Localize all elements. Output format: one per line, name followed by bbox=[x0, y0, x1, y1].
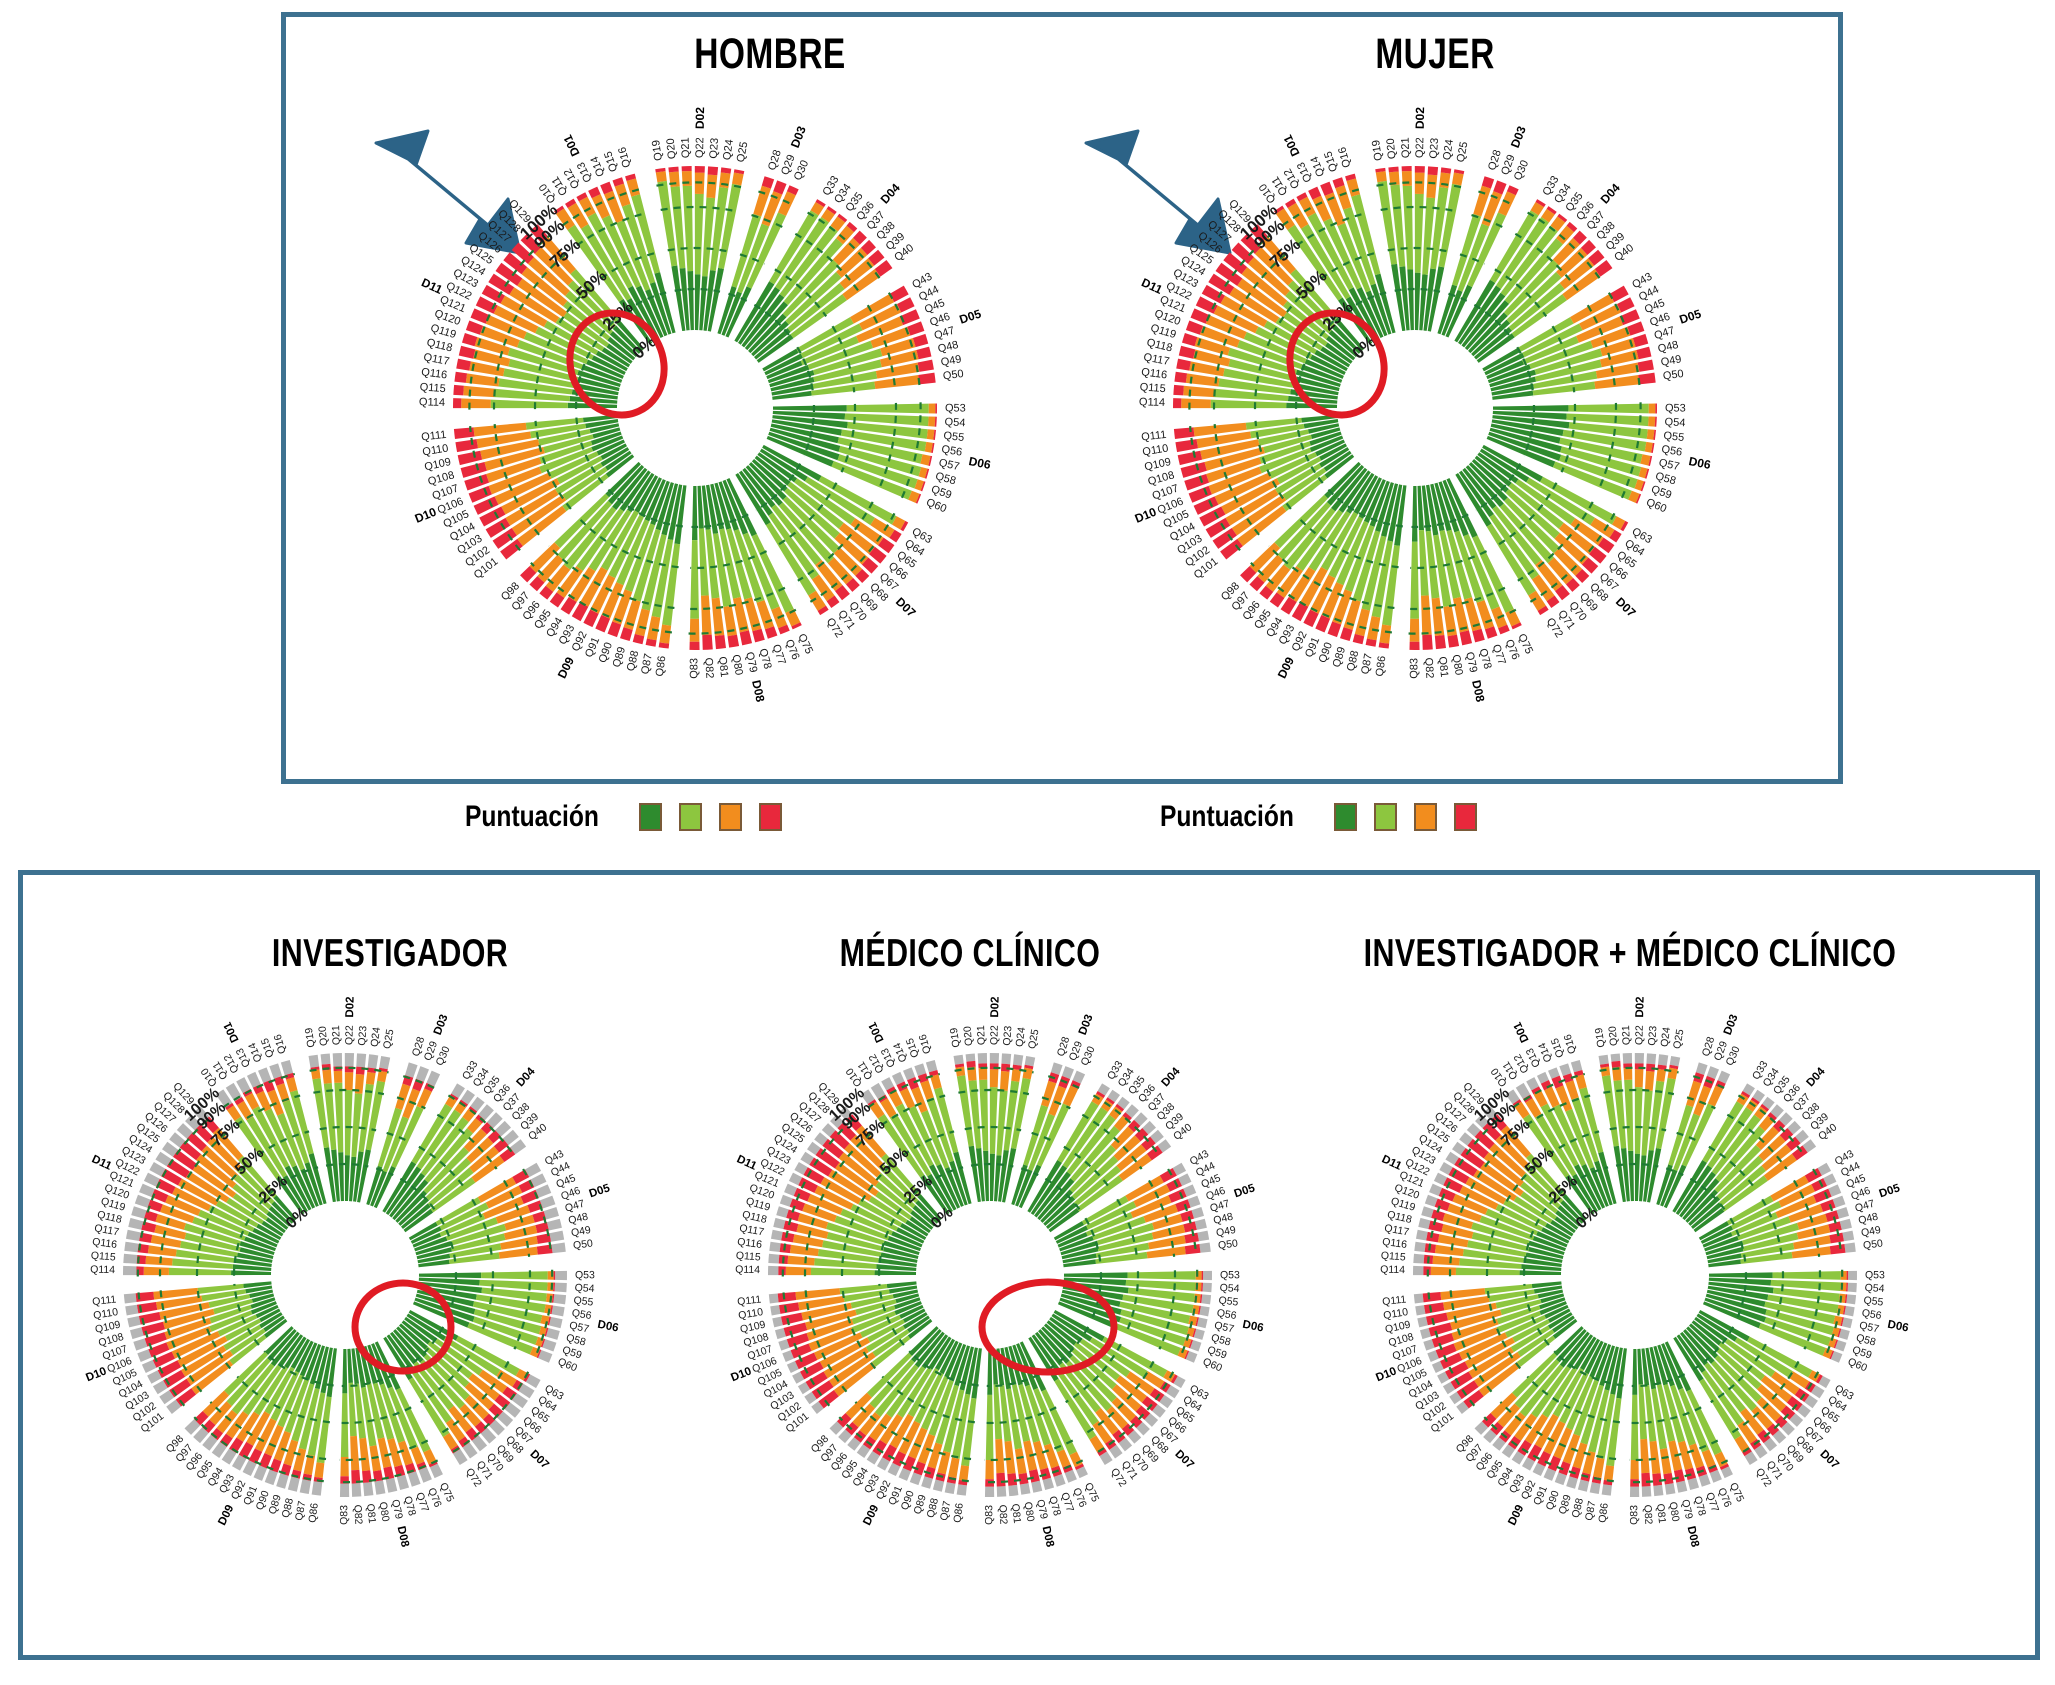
bar-segment bbox=[715, 635, 726, 649]
svg-text:D10: D10 bbox=[1133, 505, 1159, 526]
bar-segment bbox=[990, 1087, 998, 1154]
bar-segment-missing bbox=[386, 1478, 398, 1493]
bar-segment bbox=[907, 321, 924, 335]
svg-text:D04: D04 bbox=[1598, 181, 1623, 207]
svg-text:D01: D01 bbox=[1512, 1019, 1532, 1044]
bar-segment bbox=[1402, 166, 1412, 171]
bar-segment bbox=[1432, 598, 1445, 636]
bar-segment bbox=[732, 172, 744, 185]
bar-segment bbox=[1410, 542, 1419, 619]
bar-segment bbox=[1647, 429, 1655, 440]
svg-text:D05: D05 bbox=[958, 306, 984, 326]
svg-text:Q23: Q23 bbox=[356, 1025, 369, 1046]
bar-segment-missing bbox=[772, 1317, 783, 1328]
bar-segment bbox=[1638, 360, 1654, 372]
bar-segment-missing bbox=[333, 1053, 342, 1067]
bar-segment bbox=[1015, 1448, 1027, 1474]
bar-segment bbox=[1191, 308, 1210, 323]
bar-segment-missing bbox=[1008, 1485, 1018, 1496]
bar-segment-missing bbox=[1413, 1254, 1424, 1264]
bar-segment-missing bbox=[1844, 1243, 1855, 1253]
bar-segment bbox=[1439, 172, 1450, 188]
bar-segment bbox=[304, 1455, 315, 1475]
bar-segment-missing bbox=[978, 1053, 987, 1064]
svg-text:Q50: Q50 bbox=[1662, 368, 1684, 383]
bar-segment-missing bbox=[1844, 1306, 1854, 1316]
svg-text:D07: D07 bbox=[527, 1448, 551, 1471]
svg-text:Q20: Q20 bbox=[961, 1025, 975, 1046]
svg-text:D04: D04 bbox=[515, 1065, 539, 1089]
bar-segment bbox=[1709, 1272, 1773, 1278]
bar-segment-missing bbox=[768, 1254, 779, 1264]
bar-segment bbox=[1820, 1199, 1835, 1212]
bar-segment bbox=[1423, 1292, 1442, 1302]
bar-segment bbox=[1415, 194, 1424, 273]
svg-text:D03: D03 bbox=[788, 124, 809, 150]
svg-text:Q25: Q25 bbox=[735, 141, 751, 164]
bar-segment bbox=[1183, 386, 1215, 397]
svg-text:Q83: Q83 bbox=[1628, 1505, 1640, 1525]
bar-segment bbox=[231, 1270, 271, 1275]
bar-segment bbox=[695, 166, 705, 173]
svg-text:Q20: Q20 bbox=[665, 138, 679, 160]
bar-segment bbox=[875, 1270, 917, 1275]
bar-segment bbox=[419, 1272, 481, 1278]
bar-segment bbox=[1631, 1395, 1639, 1460]
bar-segment-missing bbox=[1623, 1053, 1632, 1064]
svg-text:Q19: Q19 bbox=[303, 1027, 318, 1049]
svg-text:Q48: Q48 bbox=[1657, 339, 1680, 356]
bar-segment bbox=[471, 308, 490, 323]
bar-segment bbox=[1435, 1245, 1464, 1256]
svg-text:Q19: Q19 bbox=[1370, 139, 1385, 161]
svg-text:Q56: Q56 bbox=[1661, 443, 1683, 458]
bar-segment-missing bbox=[1642, 1486, 1652, 1497]
bar-segment bbox=[918, 360, 934, 372]
svg-text:Q79: Q79 bbox=[1463, 651, 1479, 674]
svg-text:D09: D09 bbox=[555, 654, 577, 680]
bar-segment-missing bbox=[546, 1328, 560, 1340]
svg-text:Q111: Q111 bbox=[1141, 429, 1167, 444]
bar-segment bbox=[1435, 1199, 1450, 1212]
bar-segment bbox=[668, 167, 678, 173]
bar-segment-missing bbox=[321, 1054, 331, 1065]
svg-text:Q79: Q79 bbox=[743, 651, 759, 674]
bar-segment bbox=[986, 1395, 994, 1460]
bar-segment-missing bbox=[1201, 1294, 1211, 1304]
svg-text:D09: D09 bbox=[861, 1503, 881, 1527]
bar-segment-missing bbox=[352, 1483, 362, 1497]
bar-segment-missing bbox=[771, 1230, 783, 1241]
svg-text:D05: D05 bbox=[588, 1182, 612, 1200]
svg-text:Q82: Q82 bbox=[996, 1504, 1009, 1525]
bar-segment bbox=[1635, 1154, 1640, 1201]
svg-text:Q54: Q54 bbox=[944, 416, 965, 429]
bar-segment bbox=[1825, 1210, 1839, 1222]
svg-text:Q114: Q114 bbox=[90, 1264, 115, 1277]
svg-text:Q88: Q88 bbox=[625, 649, 642, 672]
bar-segment bbox=[453, 398, 461, 408]
bar-segment-missing bbox=[309, 1055, 320, 1068]
svg-text:Q114: Q114 bbox=[1139, 396, 1165, 409]
svg-text:D02: D02 bbox=[1634, 996, 1646, 1017]
bar-segment bbox=[1409, 642, 1419, 650]
svg-text:D08: D08 bbox=[1469, 679, 1487, 704]
bar-segment bbox=[1202, 1271, 1204, 1280]
bar-segment bbox=[985, 1460, 994, 1479]
bar-segment-missing bbox=[1676, 1481, 1687, 1493]
svg-text:Q86: Q86 bbox=[654, 655, 669, 677]
bar-segment-missing bbox=[551, 1243, 565, 1254]
svg-text:Q81: Q81 bbox=[1436, 656, 1450, 678]
bar-segment-missing bbox=[1846, 1294, 1856, 1304]
bar-segment bbox=[1674, 1469, 1685, 1482]
bar-segment bbox=[1568, 404, 1648, 414]
bar-segment bbox=[1175, 439, 1198, 452]
svg-text:Q115: Q115 bbox=[419, 381, 446, 395]
bar-segment bbox=[695, 274, 701, 330]
svg-text:Q23: Q23 bbox=[1646, 1025, 1659, 1046]
svg-text:D08: D08 bbox=[749, 679, 767, 704]
svg-text:Q22: Q22 bbox=[1633, 1025, 1645, 1045]
svg-text:Q117: Q117 bbox=[423, 351, 451, 368]
bar-segment bbox=[788, 1256, 815, 1266]
bar-segment bbox=[728, 635, 740, 648]
bar-segment bbox=[990, 1069, 999, 1087]
bar-segment bbox=[1632, 1349, 1637, 1395]
legend-mujer: Puntuación bbox=[1160, 800, 1477, 834]
svg-text:Q115: Q115 bbox=[90, 1250, 116, 1264]
bar-segment-missing bbox=[1416, 1230, 1428, 1241]
bar-segment bbox=[466, 321, 483, 335]
svg-text:D04: D04 bbox=[1160, 1065, 1184, 1089]
legend-swatch-orange bbox=[719, 803, 742, 831]
bar-segment bbox=[1181, 398, 1211, 408]
bar-segment-missing bbox=[130, 1327, 144, 1339]
bar-segment bbox=[1426, 1313, 1448, 1326]
bar-segment-missing bbox=[1670, 1056, 1681, 1066]
bar-segment bbox=[1379, 625, 1391, 644]
bar-segment-missing bbox=[300, 1479, 311, 1494]
svg-text:D09: D09 bbox=[216, 1503, 236, 1527]
bar-segment-missing bbox=[768, 1266, 779, 1275]
bar-segment bbox=[334, 1071, 343, 1083]
bar-segment bbox=[1000, 1071, 1010, 1091]
bar-segment-missing bbox=[356, 1053, 366, 1067]
svg-text:Q82: Q82 bbox=[1422, 657, 1435, 678]
bar-segment-missing bbox=[547, 1219, 562, 1231]
svg-text:D02: D02 bbox=[344, 996, 356, 1017]
svg-text:Q86: Q86 bbox=[951, 1502, 965, 1523]
svg-text:D09: D09 bbox=[1506, 1503, 1526, 1527]
bar-segment bbox=[1186, 321, 1203, 335]
circular-chart-investigador: Q10Q11Q12Q13Q14Q15Q16D01Q19Q20Q21Q22Q23Q… bbox=[45, 975, 645, 1575]
svg-text:Q23: Q23 bbox=[1001, 1025, 1014, 1046]
svg-text:D11: D11 bbox=[90, 1153, 114, 1173]
svg-text:Q54: Q54 bbox=[1219, 1282, 1240, 1295]
svg-text:Q80: Q80 bbox=[1666, 1501, 1681, 1523]
svg-text:Q50: Q50 bbox=[1862, 1237, 1883, 1251]
bar-segment-missing bbox=[1203, 1271, 1212, 1280]
page-title-investigador-medico: INVESTIGADOR + MÉDICO CLÍNICO bbox=[1322, 932, 1938, 976]
bar-segment-missing bbox=[553, 1294, 566, 1304]
svg-text:D11: D11 bbox=[1380, 1153, 1404, 1173]
page-title-medico-clinico: MÉDICO CLÍNICO bbox=[783, 932, 1157, 976]
svg-text:Q81: Q81 bbox=[1009, 1503, 1023, 1524]
bar-segment-missing bbox=[265, 1470, 278, 1486]
bar-segment bbox=[1452, 172, 1464, 185]
bar-segment bbox=[786, 1267, 811, 1275]
bar-segment-missing bbox=[368, 1054, 379, 1068]
bar-segment bbox=[712, 598, 725, 636]
bar-segment-missing bbox=[551, 1305, 564, 1316]
bar-segment bbox=[1415, 166, 1425, 173]
svg-text:D06: D06 bbox=[1688, 454, 1713, 472]
svg-text:Q55: Q55 bbox=[573, 1294, 594, 1308]
bar-segment bbox=[169, 1268, 231, 1275]
bar-segment bbox=[1431, 1267, 1456, 1275]
bar-segment bbox=[979, 1068, 988, 1080]
bar-segment-missing bbox=[1417, 1317, 1428, 1328]
svg-text:D11: D11 bbox=[1139, 275, 1165, 297]
bar-segment-missing bbox=[770, 1305, 780, 1315]
bar-segment bbox=[935, 403, 937, 413]
svg-text:Q115: Q115 bbox=[1380, 1250, 1406, 1264]
svg-text:Q20: Q20 bbox=[1385, 138, 1399, 160]
svg-text:D03: D03 bbox=[1508, 124, 1529, 150]
svg-text:Q53: Q53 bbox=[945, 402, 966, 414]
bar-segment bbox=[1178, 451, 1202, 465]
page-title-mujer: MUJER bbox=[1271, 30, 1599, 79]
svg-text:Q55: Q55 bbox=[1663, 430, 1685, 444]
bar-segment bbox=[1428, 1221, 1443, 1232]
bar-segment bbox=[1645, 1071, 1655, 1091]
bar-segment-missing bbox=[1415, 1305, 1425, 1315]
bar-segment bbox=[461, 398, 491, 408]
bar-segment bbox=[454, 372, 467, 383]
bar-segment bbox=[682, 166, 692, 171]
bar-segment-missing bbox=[985, 1487, 994, 1497]
bar-segment bbox=[1493, 405, 1568, 411]
bar-segment-missing bbox=[1840, 1219, 1852, 1230]
bar-segment bbox=[145, 1256, 172, 1266]
bar-segment-missing bbox=[131, 1206, 146, 1218]
bar-segment bbox=[690, 540, 699, 619]
bar-segment-missing bbox=[1602, 1484, 1612, 1495]
svg-text:D01: D01 bbox=[867, 1019, 887, 1044]
bar-segment-missing bbox=[123, 1266, 136, 1275]
bar-segment bbox=[1023, 1068, 1033, 1080]
bar-segment bbox=[1064, 1272, 1128, 1278]
bar-segment bbox=[647, 616, 660, 640]
svg-text:Q48: Q48 bbox=[937, 339, 960, 356]
svg-text:Q25: Q25 bbox=[1671, 1028, 1686, 1050]
bar-segment-missing bbox=[135, 1195, 151, 1208]
svg-text:Q87: Q87 bbox=[1359, 653, 1375, 676]
svg-text:Q53: Q53 bbox=[1220, 1269, 1240, 1281]
bar-segment-missing bbox=[340, 1484, 349, 1497]
bar-segment bbox=[1182, 333, 1197, 346]
circular-chart-medico-clinico: Q10Q11Q12Q13Q14Q15Q16D01Q19Q20Q21Q22Q23Q… bbox=[690, 975, 1290, 1575]
bar-segment-missing bbox=[1413, 1266, 1424, 1275]
svg-text:Q22: Q22 bbox=[988, 1025, 1000, 1045]
bar-segment bbox=[706, 175, 717, 199]
bar-segment bbox=[1636, 347, 1651, 360]
bar-segment bbox=[377, 1071, 387, 1083]
svg-text:D03: D03 bbox=[432, 1013, 451, 1037]
bar-segment bbox=[1433, 1256, 1460, 1266]
bar-segment-missing bbox=[555, 1283, 567, 1293]
svg-text:Q49: Q49 bbox=[940, 353, 963, 369]
bar-segment-missing bbox=[769, 1242, 780, 1252]
svg-text:D10: D10 bbox=[84, 1365, 108, 1384]
bar-segment-missing bbox=[1414, 1294, 1424, 1304]
svg-text:Q87: Q87 bbox=[639, 653, 655, 676]
svg-text:Q23: Q23 bbox=[708, 138, 722, 160]
bar-segment-missing bbox=[1202, 1283, 1211, 1293]
bar-segment bbox=[927, 429, 935, 440]
bar-segment bbox=[1847, 1271, 1849, 1280]
bar-segment-missing bbox=[288, 1477, 300, 1492]
bar-segment-missing bbox=[126, 1230, 141, 1241]
bar-segment-missing bbox=[997, 1486, 1007, 1497]
bar-segment-missing bbox=[397, 1475, 409, 1490]
bar-segment bbox=[1660, 1448, 1672, 1474]
bar-segment bbox=[1007, 1473, 1017, 1486]
bar-segment-missing bbox=[374, 1480, 385, 1495]
bar-segment bbox=[1185, 1244, 1201, 1254]
bar-segment bbox=[1604, 1465, 1614, 1481]
bar-segment bbox=[781, 1313, 803, 1326]
svg-text:Q114: Q114 bbox=[1380, 1264, 1405, 1277]
bar-segment-missing bbox=[1199, 1306, 1209, 1316]
svg-text:Q82: Q82 bbox=[1641, 1504, 1654, 1525]
svg-text:Q88: Q88 bbox=[1345, 649, 1362, 672]
bar-segment-missing bbox=[363, 1482, 373, 1496]
bar-segment bbox=[322, 1070, 331, 1084]
svg-text:Q83: Q83 bbox=[983, 1505, 995, 1525]
legend-swatch-light-green bbox=[679, 803, 702, 831]
svg-text:Q81: Q81 bbox=[364, 1503, 378, 1524]
bar-segment-missing bbox=[1599, 1055, 1609, 1065]
bar-segment bbox=[1635, 1087, 1643, 1154]
page-title-hombre: HOMBRE bbox=[606, 30, 934, 79]
svg-text:Q21: Q21 bbox=[1400, 137, 1413, 158]
svg-text:Q21: Q21 bbox=[680, 137, 693, 158]
bar-segment-missing bbox=[1611, 1054, 1621, 1062]
bar-segment bbox=[286, 1077, 298, 1092]
svg-text:D08: D08 bbox=[395, 1525, 411, 1549]
bar-segment-missing bbox=[966, 1054, 976, 1062]
legend-swatch-red bbox=[759, 803, 782, 831]
bar-segment bbox=[1635, 1069, 1644, 1087]
svg-text:Q25: Q25 bbox=[381, 1028, 396, 1050]
svg-text:D10: D10 bbox=[1374, 1365, 1398, 1384]
bar-segment-missing bbox=[1020, 1483, 1031, 1495]
svg-text:Q117: Q117 bbox=[1143, 351, 1171, 368]
svg-text:Q19: Q19 bbox=[650, 139, 665, 161]
svg-text:D06: D06 bbox=[1886, 1319, 1909, 1335]
svg-text:D02: D02 bbox=[693, 107, 707, 130]
bar-segment bbox=[790, 1245, 819, 1256]
bar-segment bbox=[1649, 404, 1656, 414]
svg-text:Q19: Q19 bbox=[948, 1027, 963, 1049]
svg-text:D06: D06 bbox=[1241, 1319, 1264, 1335]
svg-text:D07: D07 bbox=[1817, 1448, 1841, 1471]
bar-segment bbox=[1648, 416, 1655, 426]
svg-text:Q55: Q55 bbox=[943, 430, 965, 444]
bar-segment bbox=[1424, 1302, 1444, 1313]
svg-text:Q111: Q111 bbox=[421, 429, 447, 444]
bar-segment-missing bbox=[769, 1294, 779, 1304]
svg-text:D10: D10 bbox=[413, 505, 439, 526]
bar-segment bbox=[345, 1155, 350, 1201]
bar-segment-missing bbox=[555, 1271, 567, 1280]
bar-segment bbox=[1184, 1233, 1199, 1244]
svg-text:Q86: Q86 bbox=[1596, 1502, 1610, 1523]
legend-swatch-light-green bbox=[1374, 803, 1397, 831]
bar-segment-missing bbox=[990, 1053, 999, 1064]
svg-text:Q116: Q116 bbox=[420, 366, 447, 381]
bar-segment-missing bbox=[544, 1207, 559, 1219]
bar-segment-missing bbox=[1635, 1053, 1644, 1064]
svg-text:D02: D02 bbox=[989, 996, 1001, 1017]
bar-segment-missing bbox=[1025, 1056, 1036, 1066]
bar-segment bbox=[1435, 635, 1446, 649]
svg-text:D06: D06 bbox=[968, 454, 993, 472]
bar-segment bbox=[1179, 346, 1196, 359]
bar-segment-missing bbox=[540, 1196, 556, 1209]
legend-swatch-orange bbox=[1414, 803, 1437, 831]
bar-segment bbox=[966, 1061, 975, 1068]
svg-text:Q116: Q116 bbox=[91, 1236, 117, 1251]
bar-segment bbox=[453, 385, 464, 396]
bar-segment-missing bbox=[1197, 1231, 1209, 1242]
bar-segment bbox=[1630, 1460, 1639, 1479]
bar-segment bbox=[345, 1090, 353, 1155]
bar-segment-missing bbox=[1195, 1219, 1207, 1230]
svg-text:D05: D05 bbox=[1233, 1182, 1257, 1200]
bar-segment bbox=[463, 386, 495, 397]
svg-text:D10: D10 bbox=[729, 1365, 753, 1384]
bar-segment-missing bbox=[379, 1056, 390, 1069]
bar-segment bbox=[1029, 1469, 1040, 1482]
legend-title: Puntuación bbox=[465, 800, 599, 834]
bar-segment bbox=[1426, 175, 1437, 199]
bar-segment-missing bbox=[312, 1481, 323, 1495]
bar-segment-missing bbox=[123, 1254, 137, 1264]
svg-text:Q80: Q80 bbox=[1450, 654, 1465, 676]
bar-segment bbox=[659, 625, 671, 644]
svg-text:Q55: Q55 bbox=[1863, 1294, 1884, 1308]
bar-segment bbox=[1624, 1068, 1633, 1080]
bar-segment bbox=[779, 1302, 799, 1313]
circular-chart-mujer: Q10Q11Q12Q13Q14Q15Q16D01Q19Q20Q21Q22Q23Q… bbox=[1085, 78, 1745, 738]
bar-segment-missing bbox=[1630, 1487, 1639, 1497]
svg-text:D05: D05 bbox=[1678, 306, 1704, 326]
bar-segment bbox=[1367, 616, 1380, 640]
bar-segment-missing bbox=[124, 1242, 138, 1253]
bar-segment-missing bbox=[1590, 1482, 1601, 1494]
bar-segment bbox=[695, 194, 704, 274]
bar-segment bbox=[350, 1436, 359, 1470]
svg-text:Q86: Q86 bbox=[306, 1502, 320, 1523]
legend-hombre: Puntuación bbox=[465, 800, 782, 834]
svg-text:Q24: Q24 bbox=[1441, 139, 1456, 161]
bar-segment-missing bbox=[549, 1317, 563, 1328]
bar-segment bbox=[491, 400, 568, 409]
svg-text:D11: D11 bbox=[419, 275, 445, 297]
